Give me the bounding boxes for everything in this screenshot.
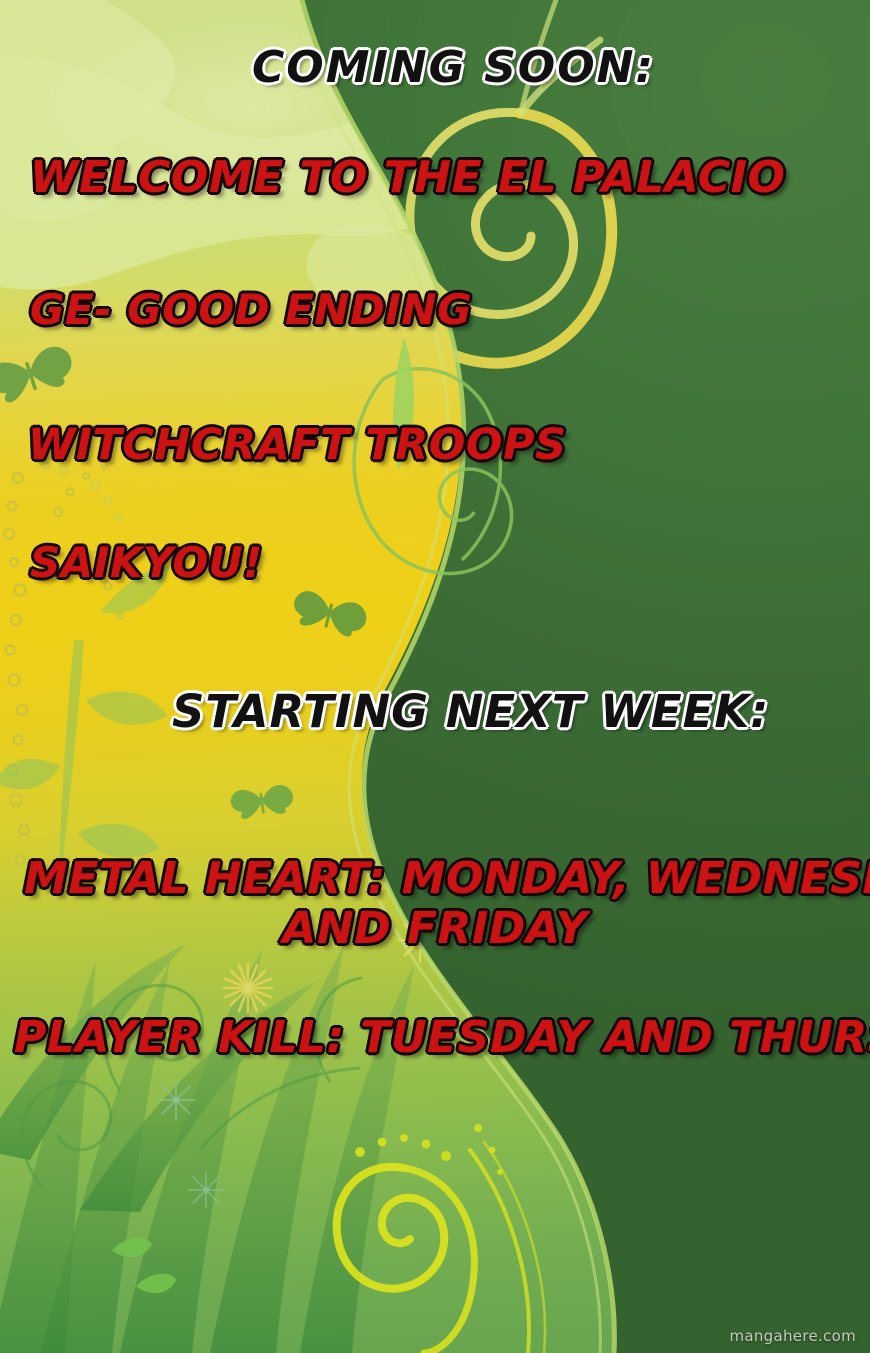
title-welcome-to-the-el-palacio: WELCOME TO THE EL PALACIO: [30, 152, 785, 203]
leaf-swirl-mid-icon: [354, 369, 511, 574]
site-watermark: mangahere.com: [729, 1327, 856, 1345]
leaf-stems-icon: [0, 566, 170, 900]
coming-soon-heading: COMING SOON:: [252, 42, 655, 93]
butterfly-right-icon: [229, 783, 295, 821]
title-witchcraft-troops: WITCHCRAFT TROOPS: [28, 420, 566, 470]
butterfly-left-icon: [0, 342, 78, 408]
title-ge-good-ending: GE- GOOD ENDING: [30, 285, 472, 334]
butterfly-mid-icon: [289, 588, 369, 640]
schedule-metal-heart-line2: AND FRIDAY: [0, 903, 870, 954]
title-saikyou: SAIKYOU!: [30, 538, 263, 587]
schedule-metal-heart-line1: METAL HEART: MONDAY, WEDNESDAY: [24, 853, 870, 904]
schedule-player-kill-line1: PLAYER KILL: TUESDAY AND THURSDAY: [14, 1012, 870, 1063]
starting-next-week-heading: STARTING NEXT WEEK:: [172, 685, 769, 738]
announcement-page: COMING SOON: WELCOME TO THE EL PALACIO G…: [0, 0, 870, 1353]
